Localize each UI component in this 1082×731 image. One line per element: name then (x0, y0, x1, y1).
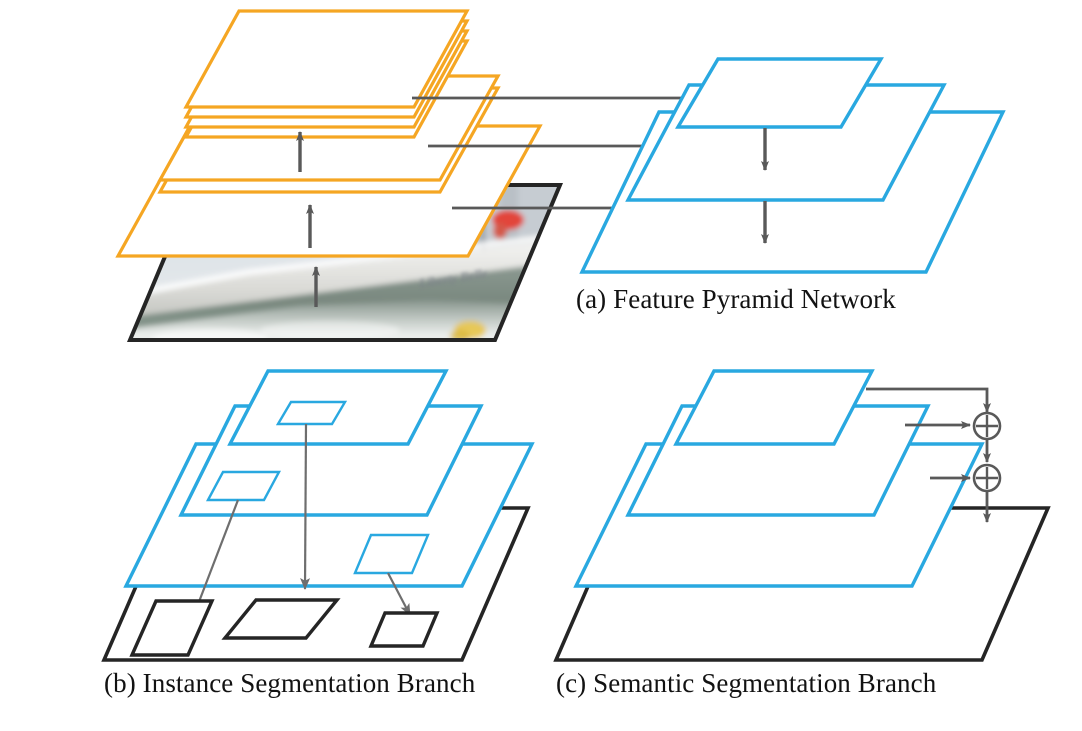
roi-arrow-center (305, 424, 306, 589)
orange-level-3 (186, 11, 467, 137)
caption-panel-b: (b) Instance Segmentation Branch (104, 668, 476, 698)
figure-root: Liberty Belle (0, 0, 1082, 731)
caption-panel-a: (a) Feature Pyramid Network (576, 284, 896, 314)
sum-node-lower (974, 465, 1000, 491)
architecture-diagram: Liberty Belle (0, 0, 1082, 731)
caption-panel-c: (c) Semantic Segmentation Branch (556, 668, 937, 698)
sum-node-upper (974, 413, 1000, 439)
roi-box-top (278, 402, 345, 424)
